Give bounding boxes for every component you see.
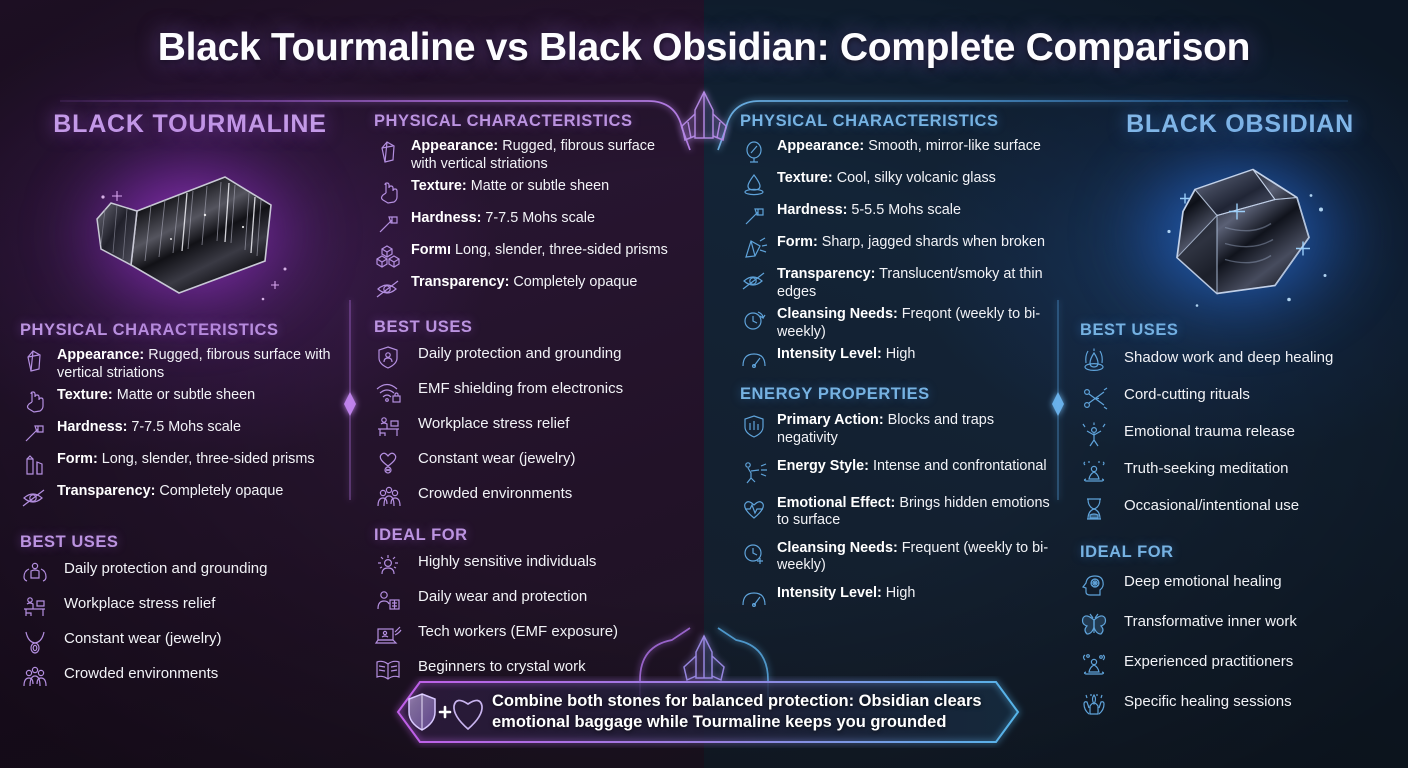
item-value: High (886, 585, 916, 601)
item-label: Cleansing Needs: (777, 306, 898, 322)
list-item: Appearance: Rugged, fibrous surface with… (374, 138, 674, 173)
list-item-text: Texture: Cool, silky volcanic glass (777, 170, 996, 188)
hammer-icon (374, 211, 404, 237)
list-item-text: Cord-cutting rituals (1124, 385, 1250, 404)
list-item: Daily wear and protection (374, 587, 674, 613)
desk-worker-icon (374, 414, 404, 440)
list-item-text: Constant wear (jewelry) (64, 629, 222, 648)
item-value: High (886, 346, 916, 362)
gauge-icon (740, 347, 770, 373)
scissors-cord-icon (1080, 385, 1110, 411)
list-item-text: Workplace stress relief (64, 594, 215, 613)
item-label: Appearance: (57, 347, 144, 363)
list-item: Daily protection and grounding (374, 344, 674, 370)
person-badge-icon (374, 587, 404, 613)
item-value: Smooth, mirror-like surface (868, 138, 1041, 154)
list-ideal-for: Deep emotional healing Transformative in… (1080, 572, 1400, 718)
item-value: Completely opaque (513, 274, 637, 290)
push-figure-icon (740, 459, 770, 485)
cubes-icon (374, 243, 404, 269)
list-item-text: Transparency: Completely opaque (411, 274, 637, 292)
page-title: Black Tourmaline vs Black Obsidian: Comp… (158, 26, 1250, 70)
list-item-text: Daily protection and grounding (418, 344, 621, 363)
mirror-icon (740, 139, 770, 165)
list-item: Texture: Matte or subtle sheen (20, 387, 360, 414)
heading-energy-properties: ENERGY PROPERTIES (740, 385, 1050, 404)
list-item: Texture: Cool, silky volcanic glass (740, 170, 1050, 197)
list-item: Crowded environments (20, 664, 360, 690)
left-panel-tourmaline: BLACK TOURMALINE (20, 110, 360, 699)
hammer-icon (20, 420, 50, 446)
list-item-text: Intensity Level: High (777, 346, 915, 364)
list-item: Intensity Level: High (740, 585, 1050, 612)
list-item-text: Beginners to crystal work (418, 657, 586, 676)
head-brain-icon (1080, 572, 1110, 598)
list-item: Appearance: Smooth, mirror-like surface (740, 138, 1050, 165)
heading-ideal-for: IDEAL FOR (1080, 543, 1400, 562)
heart-pendant-icon (374, 449, 404, 475)
gauge-icon (740, 586, 770, 612)
list-item-text: Form: Sharp, jagged shards when broken (777, 234, 1045, 252)
shield-icon (409, 694, 435, 730)
sensitive-person-icon (374, 552, 404, 578)
list-item: Shadow work and deep healing (1080, 348, 1400, 374)
desk-worker-icon (20, 594, 50, 620)
meditation-icon (1080, 459, 1110, 485)
list-ideal-for: Highly sensitive individuals Daily wear … (374, 552, 674, 683)
stone-name-tourmaline: BLACK TOURMALINE (20, 110, 360, 139)
list-item: Hardness: 5-5.5 Mohs scale (740, 202, 1050, 229)
list-item-text: Crowded environments (64, 664, 218, 683)
list-item: Transparency: Translucent/smoky at thin … (740, 266, 1050, 301)
shard-icon (740, 235, 770, 261)
obsidian-crystal-illustration (1080, 145, 1400, 321)
list-item: Intensity Level: High (740, 346, 1050, 373)
list-item: Emotional Effect: Brings hidden emotions… (740, 495, 1050, 530)
clock-sparkle-icon (740, 541, 770, 567)
item-label: Form: (777, 234, 818, 250)
banner-line-1: Combine both stones for balanced protect… (492, 691, 982, 712)
healing-hands-icon (1080, 692, 1110, 718)
item-label: Hardness: (411, 210, 481, 226)
list-item-text: EMF shielding from electronics (418, 379, 623, 398)
shield-person-icon (374, 344, 404, 370)
plus-sign (440, 707, 450, 717)
list-item-text: Appearance: Smooth, mirror-like surface (777, 138, 1041, 156)
crowd-icon (374, 484, 404, 510)
list-item: Hardness: 7-7.5 Mohs scale (374, 210, 674, 237)
list-item-text: Specific healing sessions (1124, 692, 1292, 711)
heading-physical-characteristics: PHYSICAL CHARACTERISTICS (740, 112, 1050, 131)
list-item: Cleansing Needs: Frequent (weekly to bi-… (740, 540, 1050, 575)
item-value: Long, slender, three-sided prisms (102, 451, 315, 467)
item-label: Form: (57, 451, 98, 467)
list-item: Form: Long, slender, three-sided prisms (20, 451, 360, 478)
mid-left-panel-tourmaline-detail: PHYSICAL CHARACTERISTICS Appearance: Rug… (374, 112, 674, 692)
list-item-text: Experienced practitioners (1124, 652, 1293, 671)
heading-best-uses: BEST USES (20, 533, 360, 552)
item-label: Formı (411, 242, 451, 258)
list-item: Workplace stress relief (20, 594, 360, 620)
list-item: Truth-seeking meditation (1080, 459, 1400, 485)
list-item: Hardness: 7-7.5 Mohs scale (20, 419, 360, 446)
shield-bars-icon (740, 413, 770, 439)
item-label: Hardness: (777, 202, 847, 218)
item-label: Transparency: (777, 266, 875, 282)
list-item-text: Highly sensitive individuals (418, 552, 596, 571)
item-label: Cleansing Needs: (777, 540, 898, 556)
item-value: Matte or subtle sheen (471, 178, 609, 194)
heading-physical-characteristics: PHYSICAL CHARACTERISTICS (374, 112, 674, 131)
item-value: 7-7.5 Mohs scale (131, 419, 241, 435)
list-item-text: Emotional trauma release (1124, 422, 1295, 441)
eye-slash-icon (20, 484, 50, 510)
wifi-lock-icon (374, 379, 404, 405)
item-label: Energy Style: (777, 458, 869, 474)
list-item: Experienced practitioners (1080, 652, 1400, 678)
crystal-icon (20, 348, 50, 374)
touch-hand-icon (20, 388, 50, 414)
list-item: Transformative inner work (1080, 612, 1400, 638)
list-item: Primary Action: Blocks and traps negativ… (740, 412, 1050, 447)
obsidian-stone-icon (1125, 146, 1355, 321)
eye-slash-icon (740, 267, 770, 293)
meditation-aura-icon (1080, 652, 1110, 678)
item-label: Primary Action: (777, 412, 884, 428)
list-item-text: Crowded environments (418, 484, 572, 503)
list-physical-characteristics: Appearance: Rugged, fibrous surface with… (20, 347, 360, 510)
list-item-text: Emotional Effect: Brings hidden emotions… (777, 495, 1050, 530)
list-item: Energy Style: Intense and confrontationa… (740, 458, 1050, 485)
necklace-icon (20, 629, 50, 655)
stone-name-obsidian: BLACK OBSIDIAN (1080, 110, 1400, 139)
list-item-text: Primary Action: Blocks and traps negativ… (777, 412, 1050, 447)
list-item: Emotional trauma release (1080, 422, 1400, 448)
item-label: Intensity Level: (777, 585, 882, 601)
item-value: Intense and confrontational (873, 458, 1047, 474)
tourmaline-crystal-illustration (20, 145, 360, 321)
item-value: Sharp, jagged shards when broken (822, 234, 1045, 250)
list-best-uses: Daily protection and grounding Workplace… (20, 559, 360, 690)
list-item: Appearance: Rugged, fibrous surface with… (20, 347, 360, 382)
list-item-text: Daily protection and grounding (64, 559, 267, 578)
list-item: Specific healing sessions (1080, 692, 1400, 718)
release-figure-icon (1080, 422, 1110, 448)
list-item-text: Appearance: Rugged, fibrous surface with… (411, 138, 674, 173)
item-label: Appearance: (411, 138, 498, 154)
list-item: EMF shielding from electronics (374, 379, 674, 405)
list-item: Transparency: Completely opaque (20, 483, 360, 510)
list-best-uses: Daily protection and grounding EMF shiel… (374, 344, 674, 510)
prisms-icon (20, 452, 50, 478)
crystal-icon (374, 139, 404, 165)
protection-hands-icon (20, 559, 50, 585)
item-label: Hardness: (57, 419, 127, 435)
list-item: Cleansing Needs: Freqont (weekly to bi-w… (740, 306, 1050, 341)
list-item: Workplace stress relief (374, 414, 674, 440)
banner-content: Combine both stones for balanced protect… (406, 676, 1026, 748)
item-value: 7-7.5 Mohs scale (485, 210, 595, 226)
list-energy-properties: Primary Action: Blocks and traps negativ… (740, 412, 1050, 612)
hourglass-icon (1080, 496, 1110, 522)
list-item-text: Tech workers (EMF exposure) (418, 622, 618, 641)
list-item-text: Cleansing Needs: Frequent (weekly to bi-… (777, 540, 1050, 575)
heart-icon (454, 700, 482, 729)
list-item-text: Workplace stress relief (418, 414, 569, 433)
list-physical-characteristics: Appearance: Smooth, mirror-like surface … (740, 138, 1050, 373)
list-item-text: Transparency: Translucent/smoky at thin … (777, 266, 1050, 301)
list-item-text: Daily wear and protection (418, 587, 587, 606)
list-best-uses: Shadow work and deep healing Cord-cuttin… (1080, 348, 1400, 522)
touch-hand-icon (374, 179, 404, 205)
eye-slash-icon (374, 275, 404, 301)
heading-ideal-for: IDEAL FOR (374, 526, 674, 545)
list-item-text: Transparency: Completely opaque (57, 483, 283, 501)
list-item: Cord-cutting rituals (1080, 385, 1400, 411)
item-label: Intensity Level: (777, 346, 882, 362)
item-label: Texture: (411, 178, 467, 194)
list-item-text: Hardness: 7-7.5 Mohs scale (57, 419, 241, 437)
laptop-signal-icon (374, 622, 404, 648)
item-value: Cool, silky volcanic glass (837, 170, 996, 186)
list-item-text: Texture: Matte or subtle sheen (411, 178, 609, 196)
list-item: Tech workers (EMF exposure) (374, 622, 674, 648)
list-item-text: Occasional/intentional use (1124, 496, 1299, 515)
banner-icons-group (406, 690, 484, 734)
list-item-text: Hardness: 7-7.5 Mohs scale (411, 210, 595, 228)
list-item-text: Intensity Level: High (777, 585, 915, 603)
list-item: Texture: Matte or subtle sheen (374, 178, 674, 205)
list-item: Constant wear (jewelry) (374, 449, 674, 475)
list-item-text: Shadow work and deep healing (1124, 348, 1333, 367)
list-item-text: Transformative inner work (1124, 612, 1297, 631)
list-item: Highly sensitive individuals (374, 552, 674, 578)
combine-stones-banner: Combine both stones for balanced protect… (376, 676, 1040, 748)
list-physical-characteristics: Appearance: Rugged, fibrous surface with… (374, 138, 674, 301)
list-item-text: Appearance: Rugged, fibrous surface with… (57, 347, 360, 382)
heart-pulse-icon (740, 496, 770, 522)
butterfly-icon (1080, 612, 1110, 638)
clock-cycle-icon (740, 307, 770, 333)
list-item-text: Texture: Matte or subtle sheen (57, 387, 255, 405)
list-item-text: Cleansing Needs: Freqont (weekly to bi-w… (777, 306, 1050, 341)
list-item: Daily protection and grounding (20, 559, 360, 585)
item-label: Appearance: (777, 138, 864, 154)
droplet-icon (740, 171, 770, 197)
list-item: Transparency: Completely opaque (374, 274, 674, 301)
right-panel-obsidian: BLACK OBSIDIAN (1080, 110, 1400, 727)
item-value: Long, slender, three-sided prisms (455, 242, 668, 258)
list-item: Form: Sharp, jagged shards when broken (740, 234, 1050, 261)
item-value: Completely opaque (159, 483, 283, 499)
item-value: 5-5.5 Mohs scale (851, 202, 961, 218)
list-item-text: Formı Long, slender, three-sided prisms (411, 242, 668, 260)
item-label: Transparency: (57, 483, 155, 499)
list-item: Deep emotional healing (1080, 572, 1400, 598)
hammer-icon (740, 203, 770, 229)
list-item: Occasional/intentional use (1080, 496, 1400, 522)
item-label: Texture: (777, 170, 833, 186)
crowd-icon (20, 664, 50, 690)
heading-best-uses: BEST USES (374, 318, 674, 337)
item-label: Texture: (57, 387, 113, 403)
list-item: Formı Long, slender, three-sided prisms (374, 242, 674, 269)
tourmaline-stone-icon (75, 153, 305, 313)
list-item-text: Hardness: 5-5.5 Mohs scale (777, 202, 961, 220)
item-label: Emotional Effect: (777, 495, 895, 511)
banner-text: Combine both stones for balanced protect… (492, 691, 982, 733)
list-item-text: Energy Style: Intense and confrontationa… (777, 458, 1047, 476)
list-item: Crowded environments (374, 484, 674, 510)
list-item-text: Deep emotional healing (1124, 572, 1282, 591)
list-item: Constant wear (jewelry) (20, 629, 360, 655)
list-item-text: Truth-seeking meditation (1124, 459, 1289, 478)
shadow-portal-icon (1080, 348, 1110, 374)
item-label: Transparency: (411, 274, 509, 290)
banner-line-2: emotional baggage while Tourmaline keeps… (492, 712, 982, 733)
item-value: Matte or subtle sheen (117, 387, 255, 403)
list-item-text: Form: Long, slender, three-sided prisms (57, 451, 315, 469)
mid-right-panel-obsidian-detail: PHYSICAL CHARACTERISTICS Appearance: Smo… (740, 112, 1050, 617)
list-item-text: Constant wear (jewelry) (418, 449, 576, 468)
header: Black Tourmaline vs Black Obsidian: Comp… (0, 0, 1408, 96)
